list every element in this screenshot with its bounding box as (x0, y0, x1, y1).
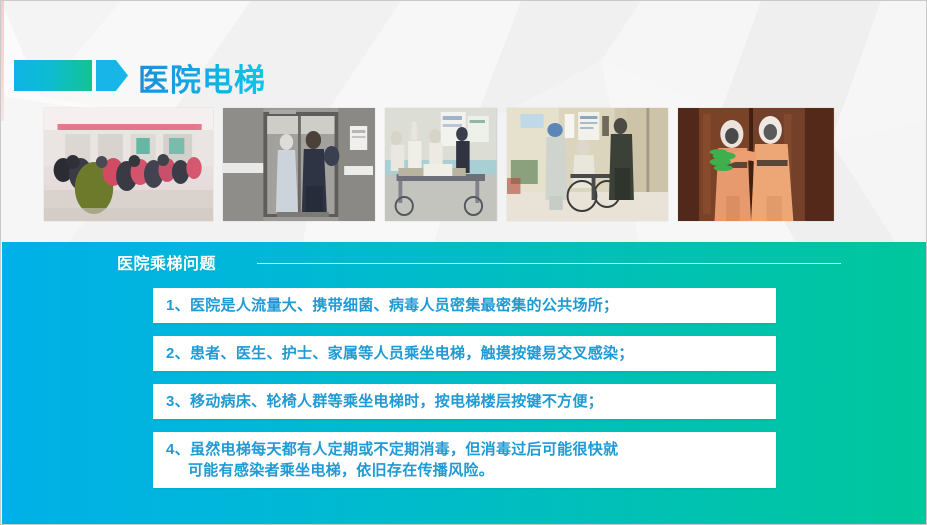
photo-protective-suit-disinfection (678, 108, 834, 221)
slide-header: 医院电梯 (1, 27, 927, 73)
slide-root: 医院电梯 (0, 0, 927, 525)
photo-patient-stretcher-transfer (385, 108, 497, 221)
photo-hospital-waiting-room (44, 108, 213, 221)
heading-divider (257, 263, 841, 264)
bullet-list: 1、医院是人流量大、携带细菌、病毒人员密集最密集的公共场所； 2、患者、医生、护… (153, 288, 776, 488)
page-title: 医院电梯 (138, 55, 266, 100)
list-item: 1、医院是人流量大、携带细菌、病毒人员密集最密集的公共场所； (153, 288, 776, 323)
bullet-line: 3、移动病床、轮椅人群等乘坐电梯时，按电梯楼层按键不方便； (166, 391, 764, 412)
bullet-line: 1、医院是人流量大、携带细菌、病毒人员密集最密集的公共场所； (166, 295, 764, 316)
photo-wheelchair-patient-elevator (507, 108, 669, 221)
list-item: 3、移动病床、轮椅人群等乘坐电梯时，按电梯楼层按键不方便； (153, 384, 776, 419)
bullet-line: 2、患者、医生、护士、家属等人员乘坐电梯，触摸按键易交叉感染； (166, 343, 764, 364)
panel-heading: 医院乘梯问题 (117, 250, 216, 274)
bullet-line: 4、虽然电梯每天都有人定期或不定期消毒，但消毒过后可能很快就 (166, 439, 764, 460)
list-item: 4、虽然电梯每天都有人定期或不定期消毒，但消毒过后可能很快就 可能有感染者乘坐电… (153, 432, 776, 488)
bullet-line: 可能有感染者乘坐电梯，依旧存在传播风险。 (166, 460, 764, 481)
title-tag-block (14, 60, 92, 91)
list-item: 2、患者、医生、护士、家属等人员乘坐电梯，触摸按键易交叉感染； (153, 336, 776, 371)
photo-elevator-medical-staff (223, 108, 375, 221)
photo-strip (44, 108, 834, 221)
